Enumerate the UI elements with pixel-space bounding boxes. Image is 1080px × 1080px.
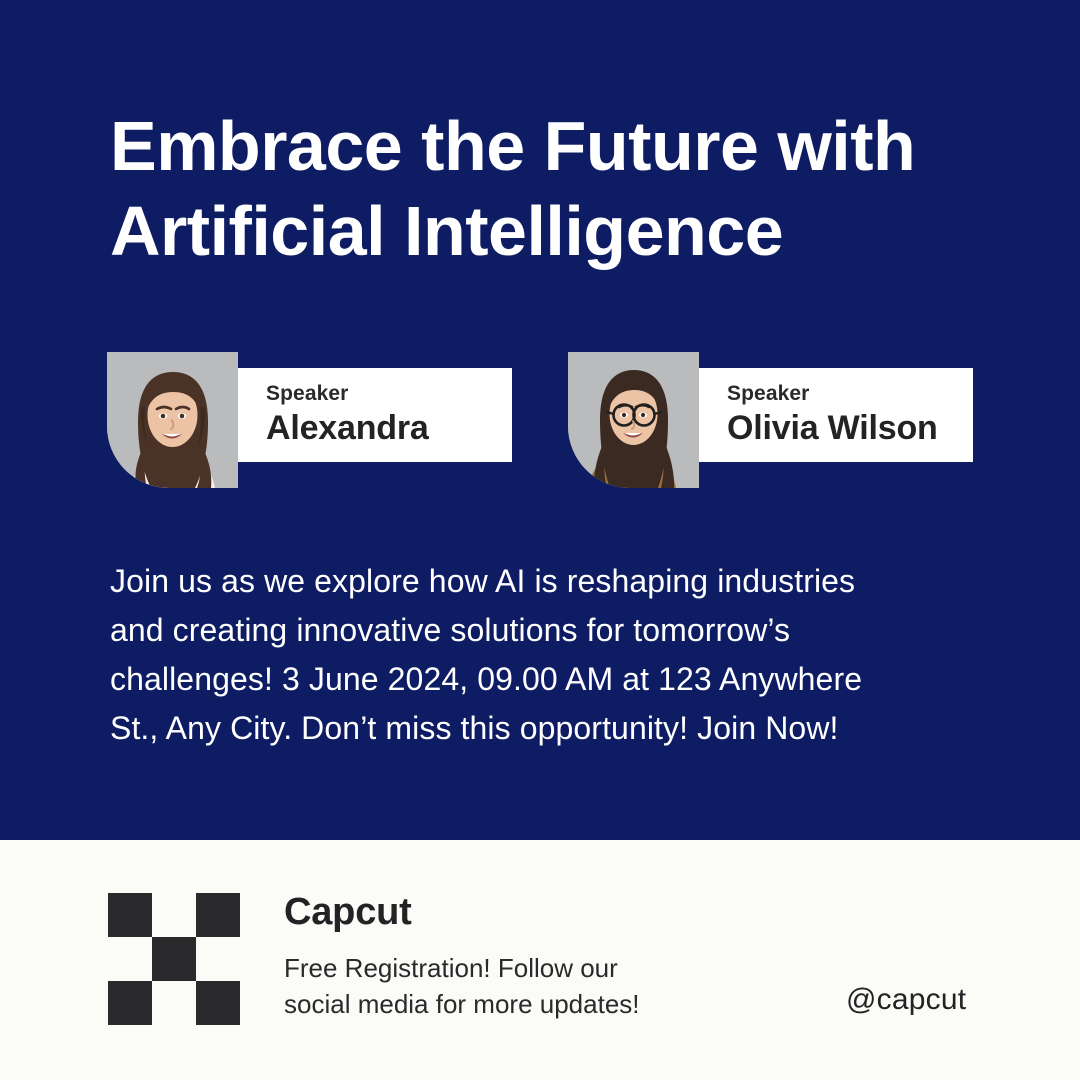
speaker-avatar	[568, 352, 699, 488]
brand-tagline: Free Registration! Follow our social med…	[284, 950, 764, 1022]
page-title: Embrace the Future with Artificial Intel…	[110, 104, 1010, 273]
logo-cell	[152, 893, 196, 937]
speaker-name: Alexandra	[266, 408, 512, 449]
tagline-line-1: Free Registration! Follow our	[284, 950, 764, 986]
headline-line-1: Embrace the Future with	[110, 104, 1010, 189]
logo-cell	[152, 981, 196, 1025]
poster-canvas: Embrace the Future with Artificial Intel…	[0, 0, 1080, 1080]
body-line-2: and creating innovative solutions for to…	[110, 606, 990, 655]
speaker-name: Olivia Wilson	[727, 408, 973, 449]
logo-cell	[108, 937, 152, 981]
speaker-role-label: Speaker	[266, 382, 512, 406]
headline-line-2: Artificial Intelligence	[110, 189, 1010, 274]
speaker-role-label: Speaker	[727, 382, 973, 406]
speaker-list: Speaker Alexandra	[107, 352, 973, 488]
social-handle[interactable]: @capcut	[846, 983, 966, 1017]
logo-cell	[196, 981, 240, 1025]
brand-block: Capcut Free Registration! Follow our soc…	[284, 893, 764, 1022]
speaker-card-olivia-wilson[interactable]: Speaker Olivia Wilson	[568, 352, 973, 488]
body-line-3: challenges! 3 June 2024, 09.00 AM at 123…	[110, 655, 990, 704]
speaker-namecard: Speaker Alexandra	[238, 368, 512, 462]
speaker-avatar	[107, 352, 238, 488]
logo-cell	[152, 937, 196, 981]
checkerboard-x-logo-icon	[108, 893, 240, 1025]
speaker-namecard: Speaker Olivia Wilson	[699, 368, 973, 462]
logo-cell	[108, 893, 152, 937]
logo-cell	[196, 893, 240, 937]
speaker-card-alexandra[interactable]: Speaker Alexandra	[107, 352, 512, 488]
tagline-line-2: social media for more updates!	[284, 986, 764, 1022]
brand-name: Capcut	[284, 893, 764, 933]
body-line-1: Join us as we explore how AI is reshapin…	[110, 557, 990, 606]
logo-cell	[108, 981, 152, 1025]
event-description: Join us as we explore how AI is reshapin…	[110, 557, 990, 753]
body-line-4: St., Any City. Don’t miss this opportuni…	[110, 704, 990, 753]
logo-cell	[196, 937, 240, 981]
